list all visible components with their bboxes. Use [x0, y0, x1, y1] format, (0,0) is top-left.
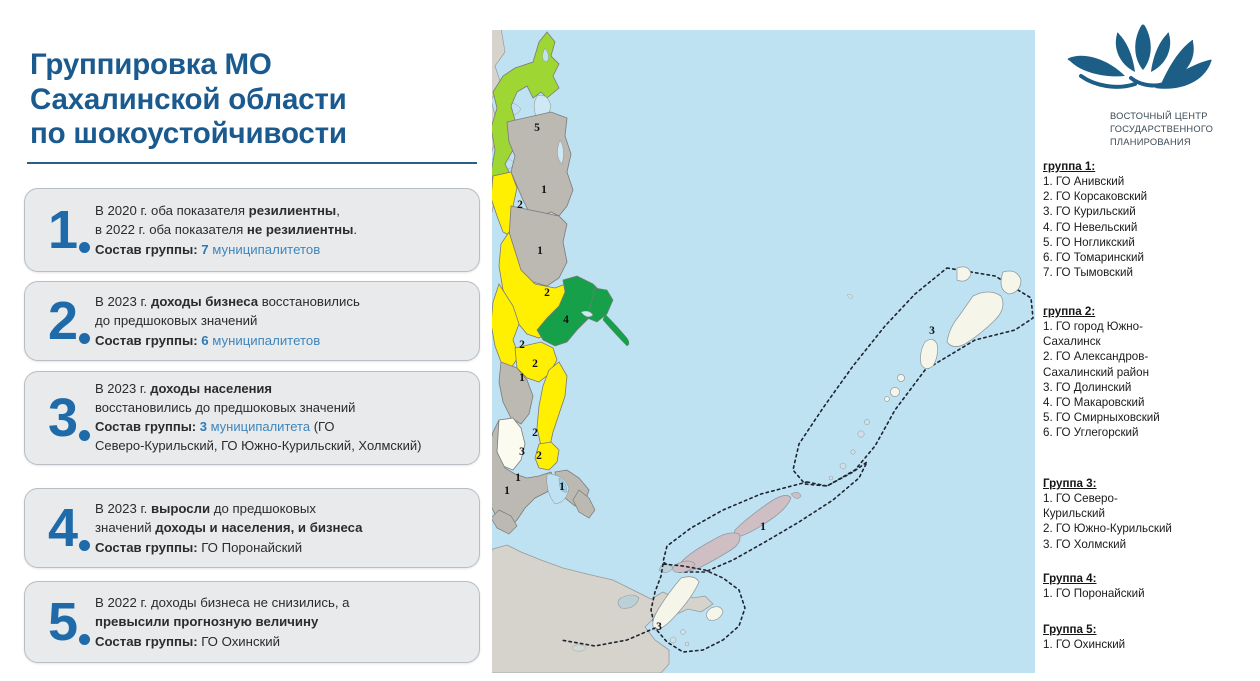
bullet-dot-icon	[79, 540, 90, 551]
map-region-label-2: 2	[544, 287, 550, 299]
group-list-item: 1. ГО Поронайский	[1043, 586, 1258, 601]
group-list-item: 5. ГО Ногликский	[1043, 235, 1258, 250]
logo-text-line-1: ВОСТОЧНЫЙ ЦЕНТР	[1110, 110, 1213, 123]
logo-text-line-2: ГОСУДАРСТВЕННОГО	[1110, 123, 1213, 136]
group-card-2[interactable]: 2 В 2023 г. доходы бизнеса восстановилис…	[24, 281, 480, 361]
map-region-label-1: 1	[504, 485, 510, 497]
logo-text-line-3: ПЛАНИРОВАНИЯ	[1110, 136, 1213, 149]
map-region-label-2: 2	[519, 339, 525, 351]
group-list-item: 6. ГО Томаринский	[1043, 250, 1258, 265]
right-legend-panel: ВОСТОЧНЫЙ ЦЕНТР ГОСУДАРСТВЕННОГО ПЛАНИРО…	[1035, 0, 1260, 681]
group-list-item: 7. ГО Тымовский	[1043, 265, 1258, 280]
lotus-leaf-logo-icon	[1065, 14, 1237, 110]
group-list-item: 1. ГО Северо-	[1043, 491, 1258, 506]
map-vector-layer	[455, 0, 1040, 681]
map-island-shikotan	[706, 607, 723, 621]
group-card-1-text: В 2020 г. оба показателя резилиентны,в 2…	[95, 201, 469, 260]
bullet-dot-icon	[79, 333, 90, 344]
group-list-item: 1. ГО Анивский	[1043, 174, 1258, 189]
map-region-label-1: 1	[760, 521, 766, 533]
left-content-panel: Группировка МО Сахалинской области по шо…	[0, 0, 492, 681]
group-list-item: 2. ГО Южно-Курильский	[1043, 521, 1258, 536]
group-card-3-text: В 2023 г. доходы населениявосстановились…	[95, 380, 469, 455]
group-card-1-number: 1	[31, 203, 95, 257]
map-region-label-2: 2	[532, 427, 538, 439]
infographic-root: 512124221232111313 Группировка МО Сахали…	[0, 0, 1260, 681]
bullet-dot-icon	[79, 430, 90, 441]
map-region-label-3: 3	[929, 325, 935, 337]
group-card-2-text: В 2023 г. доходы бизнеса восстановилисьд…	[95, 292, 469, 351]
group-list-item: 4. ГО Макаровский	[1043, 395, 1258, 410]
map-region-label-4: 4	[563, 314, 569, 326]
map-island-paramushir	[947, 292, 1003, 347]
group-card-3-number: 3	[31, 391, 95, 445]
group-card-2-number: 2	[31, 294, 95, 348]
map-region-label-1: 1	[559, 481, 565, 493]
group-list-item: 3. ГО Долинский	[1043, 380, 1258, 395]
group-list-item: 5. ГО Смирныховский	[1043, 410, 1258, 425]
group-card-5-number: 5	[31, 595, 95, 649]
group-list-1-heading: группа 1:	[1043, 160, 1258, 173]
group-list-item: Сахалинский район	[1043, 365, 1258, 380]
page-title-line-1: Группировка МО	[30, 48, 480, 83]
group-card-4-text: В 2023 г. выросли до предшоковыхзначений…	[95, 499, 469, 558]
group-list-item: 2. ГО Корсаковский	[1043, 189, 1258, 204]
map-region-label-5: 5	[534, 122, 540, 134]
group-list-4-items: 1. ГО Поронайский	[1043, 586, 1258, 601]
map-region-label-3: 3	[656, 621, 662, 633]
page-title: Группировка МО Сахалинской области по шо…	[30, 48, 480, 152]
group-list-1: группа 1: 1. ГО Анивский2. ГО Корсаковск…	[1043, 160, 1258, 280]
title-divider	[27, 162, 477, 164]
group-card-5-text: В 2022 г. доходы бизнеса не снизились, а…	[95, 593, 469, 652]
group-list-1-items: 1. ГО Анивский2. ГО Корсаковский3. ГО Ку…	[1043, 174, 1258, 280]
group-list-5: Группа 5: 1. ГО Охинский	[1043, 623, 1258, 652]
group-list-2-items: 1. ГО город Южно-Сахалинск2. ГО Александ…	[1043, 319, 1258, 441]
group-list-item: 3. ГО Курильский	[1043, 204, 1258, 219]
group-list-item: 4. ГО Невельский	[1043, 220, 1258, 235]
page-title-line-3: по шокоустойчивости	[30, 117, 480, 152]
group-list-4: Группа 4: 1. ГО Поронайский	[1043, 572, 1258, 601]
group-list-item: Курильский	[1043, 506, 1258, 521]
map-region-label-2: 2	[517, 199, 523, 211]
group-list-4-heading: Группа 4:	[1043, 572, 1258, 585]
map-region-label-1: 1	[515, 472, 521, 484]
map-region-label-2: 2	[532, 358, 538, 370]
group-list-item: 3. ГО Холмский	[1043, 537, 1258, 552]
group-list-item: 6. ГО Углегорский	[1043, 425, 1258, 440]
group-card-3[interactable]: 3 В 2023 г. доходы населениявосстановили…	[24, 371, 480, 465]
map-top-mask	[455, 0, 1040, 30]
organization-logo: ВОСТОЧНЫЙ ЦЕНТР ГОСУДАРСТВЕННОГО ПЛАНИРО…	[1043, 14, 1258, 152]
map-region-label-1: 1	[541, 184, 547, 196]
group-list-3-heading: Группа 3:	[1043, 477, 1258, 490]
organization-logo-text: ВОСТОЧНЫЙ ЦЕНТР ГОСУДАРСТВЕННОГО ПЛАНИРО…	[1110, 110, 1213, 148]
group-list-item: 1. ГО город Южно-	[1043, 319, 1258, 334]
group-card-5[interactable]: 5 В 2022 г. доходы бизнеса не снизились,…	[24, 581, 480, 663]
sakhalin-region-map	[455, 0, 1040, 681]
group-card-1[interactable]: 1 В 2020 г. оба показателя резилиентны,в…	[24, 188, 480, 272]
page-title-line-2: Сахалинской области	[30, 83, 480, 118]
map-region-label-2: 2	[536, 450, 542, 462]
group-list-2-heading: группа 2:	[1043, 305, 1258, 318]
map-region-label-1: 1	[519, 372, 525, 384]
group-list-item: Сахалинск	[1043, 334, 1258, 349]
bullet-dot-icon	[79, 242, 90, 253]
group-card-4-number: 4	[31, 501, 95, 555]
map-bottom-mask	[455, 673, 1040, 681]
group-list-2: группа 2: 1. ГО город Южно-Сахалинск2. Г…	[1043, 305, 1258, 441]
group-list-5-items: 1. ГО Охинский	[1043, 637, 1258, 652]
group-list-3-items: 1. ГО Северо-Курильский2. ГО Южно-Куриль…	[1043, 491, 1258, 552]
group-list-item: 1. ГО Охинский	[1043, 637, 1258, 652]
map-region-label-1: 1	[537, 245, 543, 257]
group-list-3: Группа 3: 1. ГО Северо-Курильский2. ГО Ю…	[1043, 477, 1258, 552]
group-list-item: 2. ГО Александров-	[1043, 349, 1258, 364]
bullet-dot-icon	[79, 634, 90, 645]
map-region-label-3: 3	[519, 446, 525, 458]
group-card-4[interactable]: 4 В 2023 г. выросли до предшоковыхзначен…	[24, 488, 480, 568]
group-list-5-heading: Группа 5:	[1043, 623, 1258, 636]
